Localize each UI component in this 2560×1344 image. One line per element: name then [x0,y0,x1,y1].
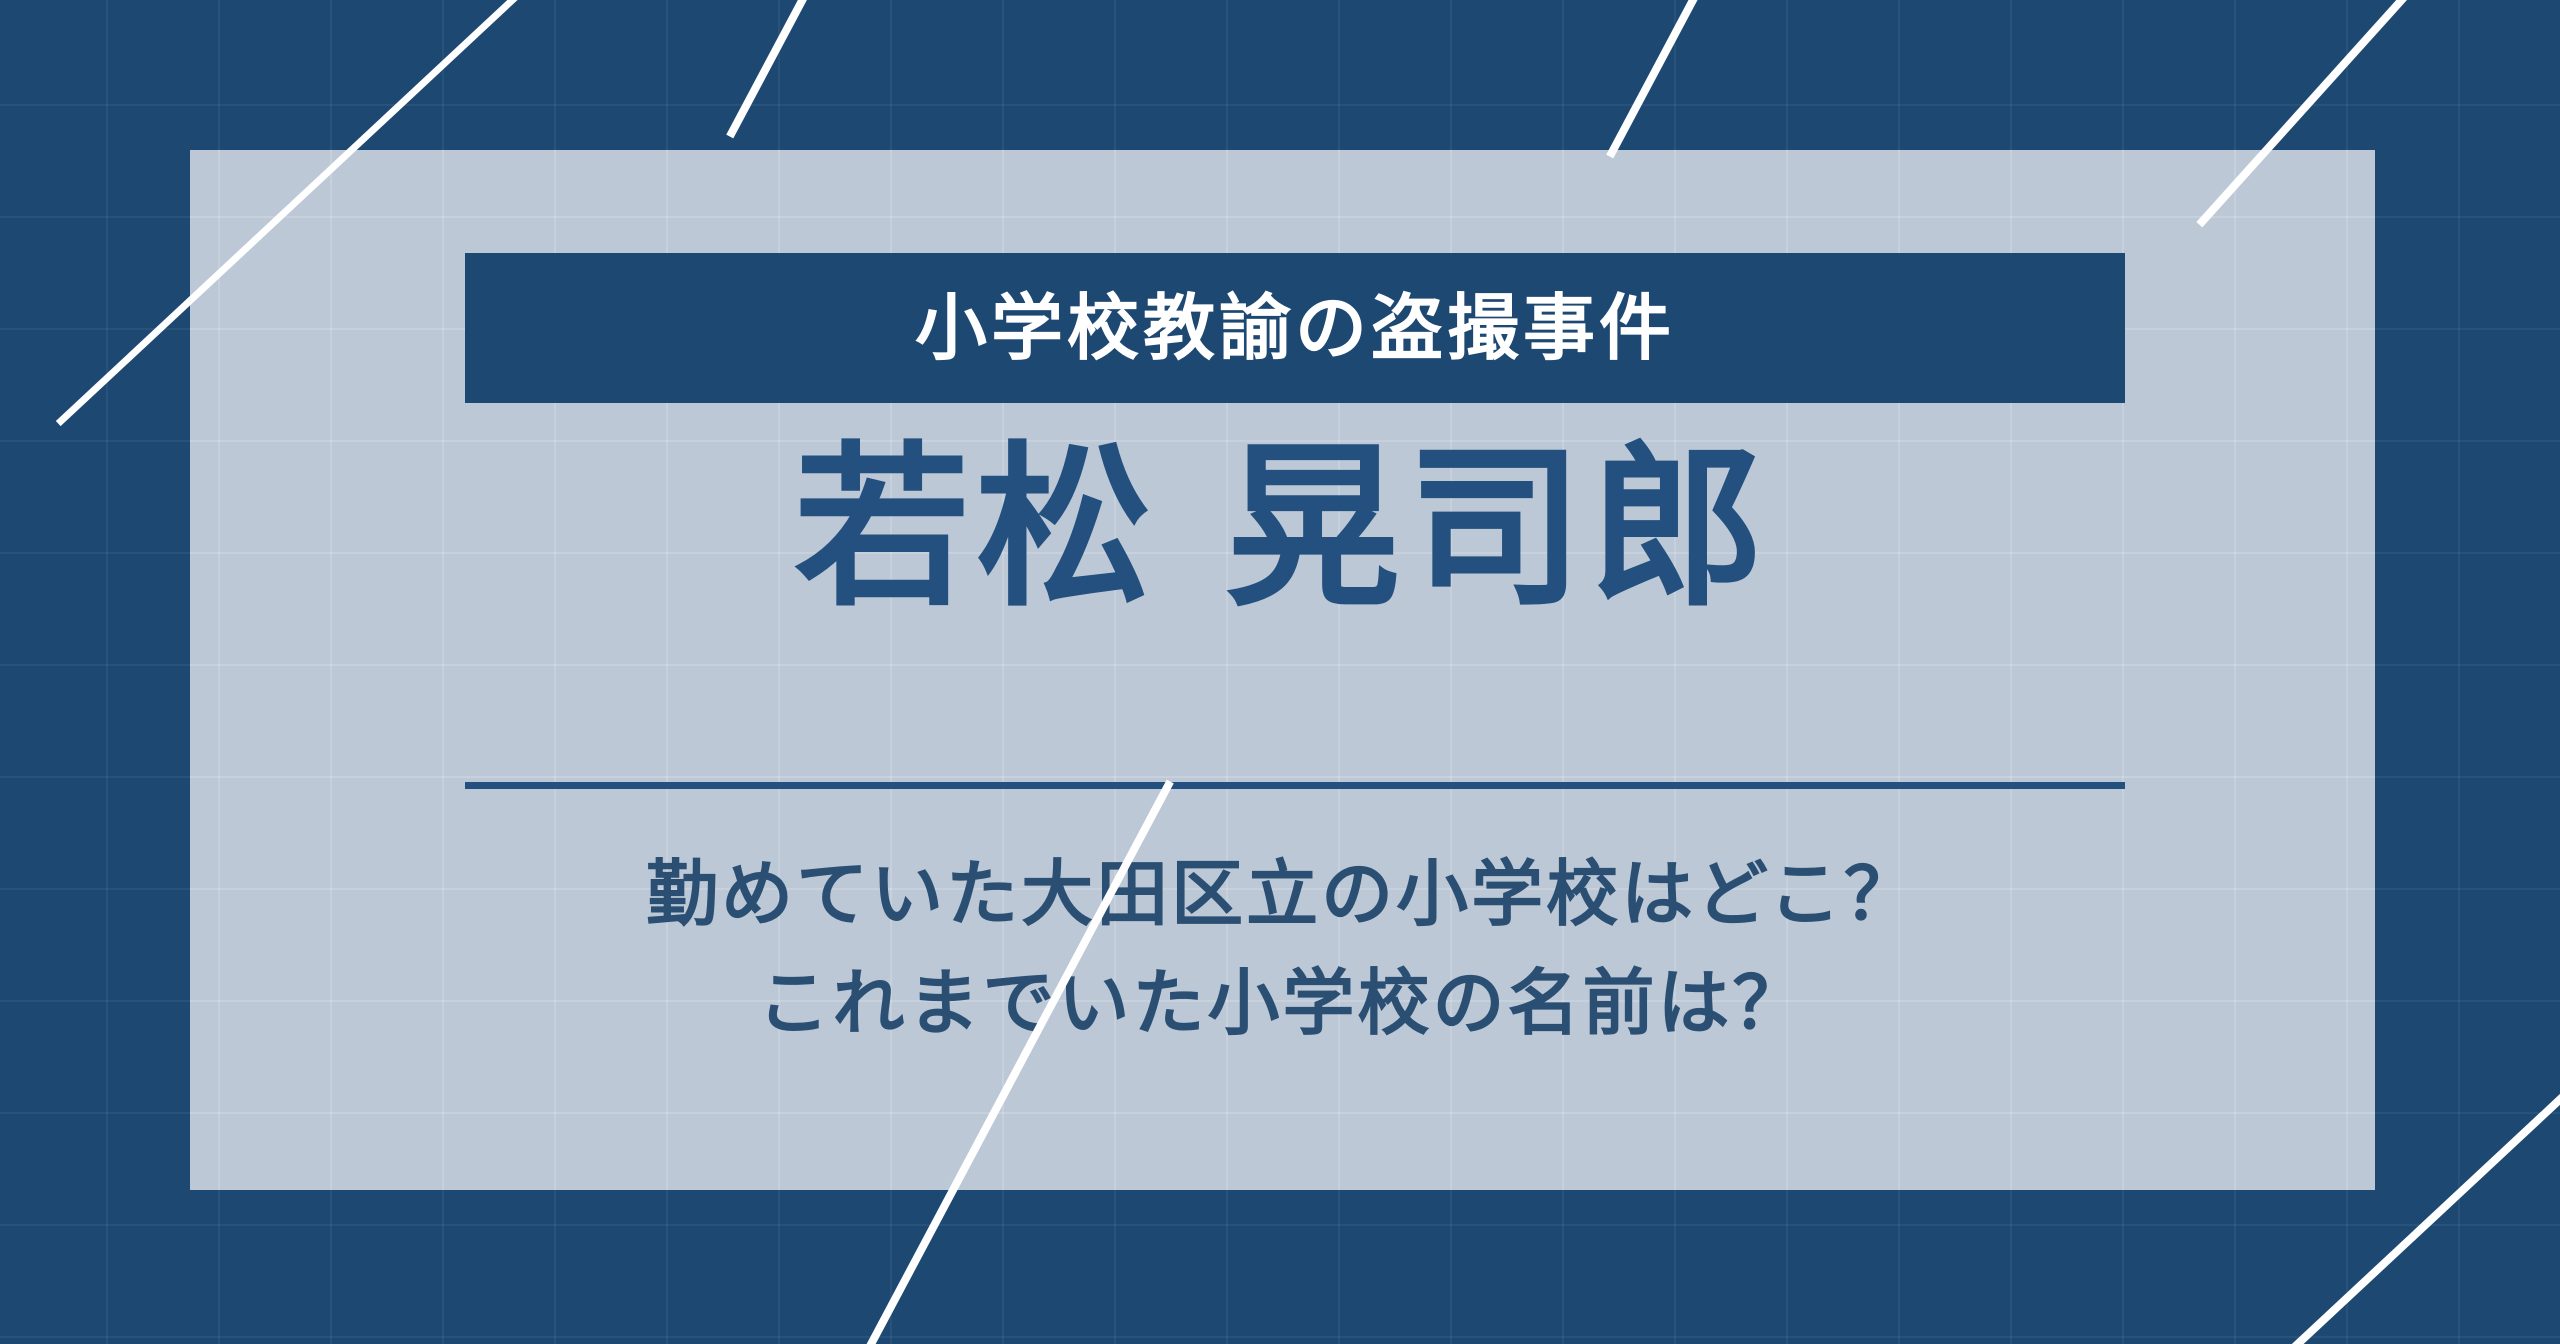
title-banner: 小学校教諭の盗撮事件 [465,253,2125,403]
subject-name-row: 若松 晃司郎 [190,430,2375,627]
subject-name: 若松 晃司郎 [794,426,1771,631]
question-line-2: これまでいた小学校の名前は？ [190,949,2375,1058]
question-line-1: 勤めていた大田区立の小学校はどこ？ [190,840,2375,949]
title-banner-label: 小学校教諭の盗撮事件 [915,292,1675,364]
poster-canvas: 小学校教諭の盗撮事件 若松 晃司郎 勤めていた大田区立の小学校はどこ？ これまで… [0,0,2560,1344]
question-block: 勤めていた大田区立の小学校はどこ？ これまでいた小学校の名前は？ [190,840,2375,1059]
horizontal-divider [465,782,2125,789]
